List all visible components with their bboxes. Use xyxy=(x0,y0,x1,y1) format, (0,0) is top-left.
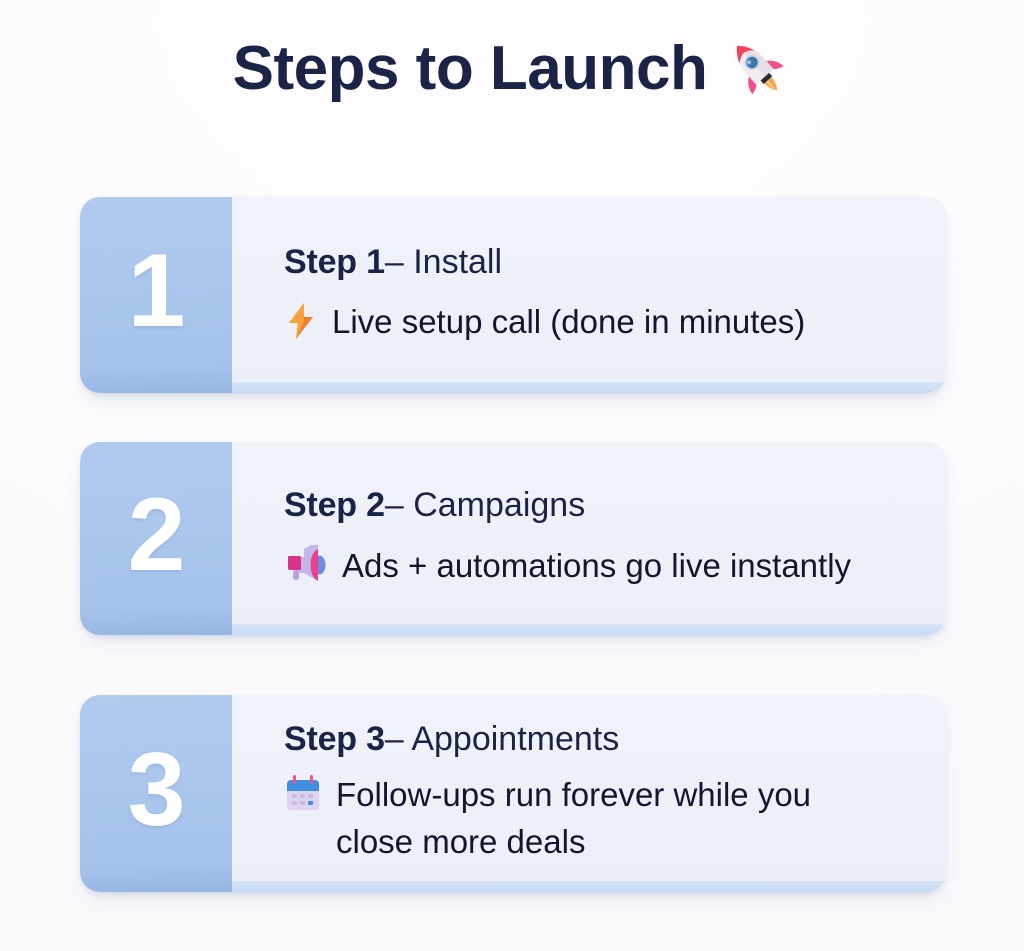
step-label: Step 3 xyxy=(284,720,385,758)
step-card[interactable]: 3 Step 3– Appointments xyxy=(80,695,946,892)
infographic-page: Steps to Launch 1 xyxy=(0,0,1024,951)
high-voltage-icon xyxy=(284,301,318,346)
step-detail-row: Live setup call (done in minutes) xyxy=(284,299,926,346)
step-detail-text: Follow-ups run forever while you close m… xyxy=(336,772,876,866)
step-separator: – xyxy=(385,486,404,524)
step-label: Step 1 xyxy=(284,243,385,281)
step-number-panel: 3 xyxy=(80,695,232,892)
step-title: Campaigns xyxy=(413,486,585,524)
page-title-text: Steps to Launch xyxy=(233,34,708,103)
step-detail-text: Live setup call (done in minutes) xyxy=(332,299,805,346)
step-number: 2 xyxy=(128,483,185,587)
step-card-body: Step 2– Campaigns Ads + automations go l… xyxy=(232,442,946,635)
step-card-body: Step 1– Install Live setup call (done in… xyxy=(232,197,946,393)
step-number: 1 xyxy=(128,239,185,343)
rocket-icon xyxy=(723,34,791,107)
step-separator: – xyxy=(385,720,404,758)
step-card-body: Step 3– Appointments xyxy=(232,695,946,892)
step-detail-text: Ads + automations go live instantly xyxy=(342,543,851,590)
step-detail-row: Follow-ups run forever while you close m… xyxy=(284,772,926,866)
step-number-panel: 1 xyxy=(80,197,232,393)
step-card[interactable]: 1 Step 1– Install Live setup call (done … xyxy=(80,197,946,393)
step-heading: Step 3– Appointments xyxy=(284,721,926,758)
step-title: Install xyxy=(413,243,502,281)
step-heading: Step 2– Campaigns xyxy=(284,487,926,524)
step-heading: Step 1– Install xyxy=(284,244,926,281)
step-detail-row: Ads + automations go live instantly xyxy=(284,543,926,590)
page-title: Steps to Launch xyxy=(0,32,1024,105)
step-separator: – xyxy=(385,243,404,281)
calendar-icon xyxy=(284,774,322,819)
step-label: Step 2 xyxy=(284,486,385,524)
step-number-panel: 2 xyxy=(80,442,232,635)
megaphone-icon xyxy=(284,545,328,590)
step-title: Appointments xyxy=(411,720,619,758)
step-card[interactable]: 2 Step 2– Campaigns Ads + automations go… xyxy=(80,442,946,635)
step-number: 3 xyxy=(128,738,185,842)
